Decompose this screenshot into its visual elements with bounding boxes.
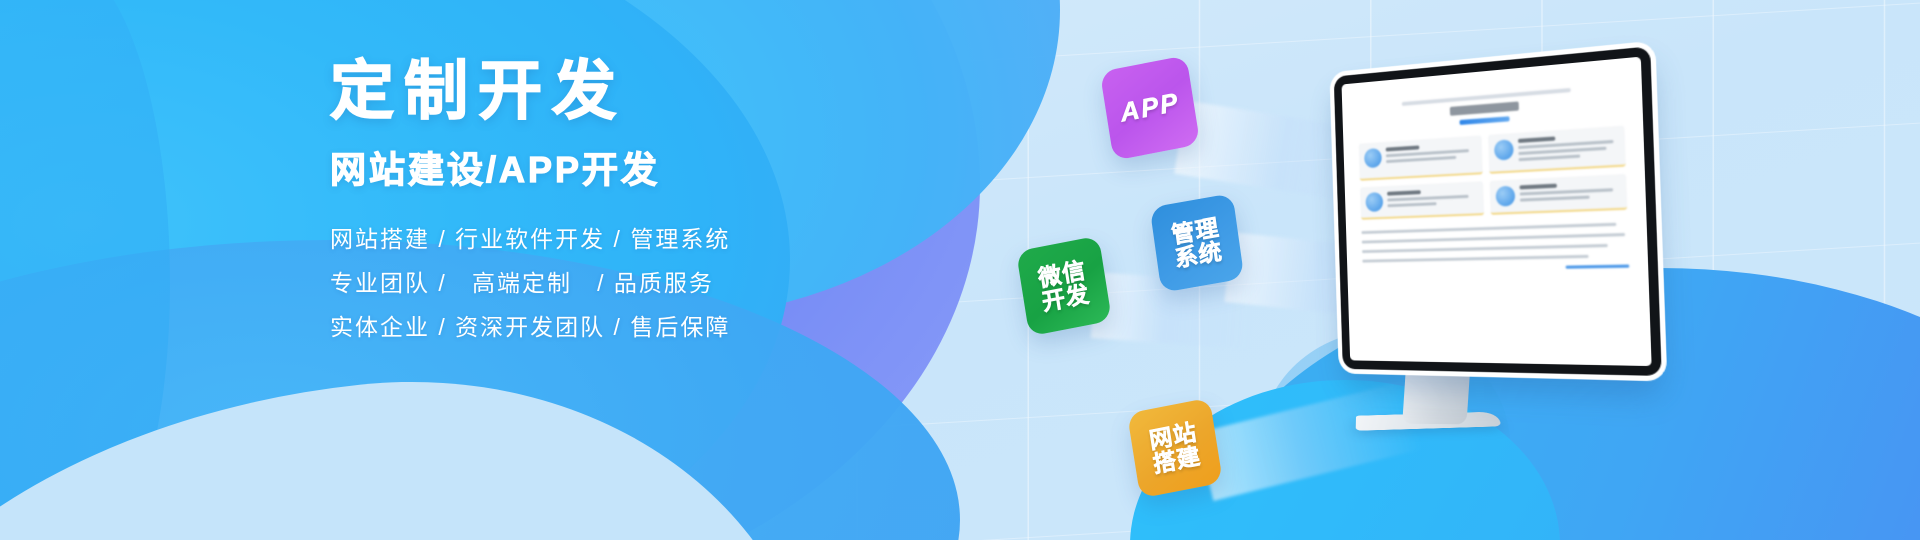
mockup-feature-card xyxy=(1490,174,1628,215)
mockup-feature-line xyxy=(1518,147,1606,155)
mockup-feature-heading xyxy=(1519,184,1556,190)
description-line-2: 专业团队 / 高端定制 / 品质服务 xyxy=(330,272,850,295)
mockup-feature-text xyxy=(1387,187,1478,211)
mockup-feature-card xyxy=(1488,126,1626,174)
mockup-feature-line xyxy=(1387,195,1468,202)
mockup-feature-line xyxy=(1386,156,1456,163)
mockup-feature-icon xyxy=(1496,186,1516,207)
page-title: 定制开发 xyxy=(330,60,850,124)
mockup-paragraph-line xyxy=(1361,223,1616,234)
page-subtitle: 网站建设/APP开发 xyxy=(330,152,850,188)
mockup-paragraph-line xyxy=(1362,255,1588,263)
mockup-feature-text xyxy=(1386,142,1477,172)
mockup-feature-heading xyxy=(1386,145,1420,151)
mockup-feature-text xyxy=(1519,181,1620,206)
mockup-underline xyxy=(1459,116,1509,125)
service-card-management-system-label: 管理系统 xyxy=(1170,215,1224,271)
mockup-accent-bar xyxy=(1566,265,1630,269)
mockup-feature-icon xyxy=(1365,192,1383,212)
copy-block: 定制开发 网站建设/APP开发 网站搭建 / 行业软件开发 / 管理系统 专业团… xyxy=(330,60,850,360)
description-line-1: 网站搭建 / 行业软件开发 / 管理系统 xyxy=(330,228,850,251)
mockup-feature-line xyxy=(1518,140,1613,149)
mockup-feature-icon xyxy=(1364,148,1382,168)
service-card-website-building[interactable]: 网站搭建 xyxy=(1127,398,1223,499)
monitor-screen xyxy=(1342,57,1652,367)
service-card-management-system[interactable]: 管理系统 xyxy=(1150,193,1245,293)
mockup-title xyxy=(1450,101,1519,115)
service-card-website-building-label: 网站搭建 xyxy=(1148,420,1203,477)
description-list: 网站搭建 / 行业软件开发 / 管理系统 专业团队 / 高端定制 / 品质服务 … xyxy=(330,228,850,339)
mockup-feature-text xyxy=(1518,132,1619,164)
mockup-feature-line xyxy=(1519,155,1580,162)
service-card-app[interactable]: APP xyxy=(1100,55,1201,161)
mockup-feature-grid xyxy=(1359,126,1628,220)
service-card-app-label: APP xyxy=(1119,89,1182,127)
mockup-feature-heading xyxy=(1518,136,1555,143)
mockup-feature-card xyxy=(1359,135,1483,180)
mockup-paragraph-line xyxy=(1362,233,1626,244)
service-card-wechat-development[interactable]: 微信开发 xyxy=(1016,236,1112,337)
mockup-body-text xyxy=(1361,222,1629,272)
mockup-paragraph-line xyxy=(1362,244,1608,253)
website-mockup xyxy=(1342,57,1652,367)
promo-banner: 定制开发 网站建设/APP开发 网站搭建 / 行业软件开发 / 管理系统 专业团… xyxy=(0,0,1920,540)
mockup-feature-line xyxy=(1387,202,1436,207)
description-line-3: 实体企业 / 资深开发团队 / 售后保障 xyxy=(330,316,850,339)
service-card-wechat-development-label: 微信开发 xyxy=(1037,258,1092,315)
monitor-illustration xyxy=(1334,46,1662,376)
mockup-feature-heading xyxy=(1387,190,1421,195)
mockup-feature-icon xyxy=(1494,139,1514,160)
mockup-feature-card xyxy=(1360,181,1484,220)
